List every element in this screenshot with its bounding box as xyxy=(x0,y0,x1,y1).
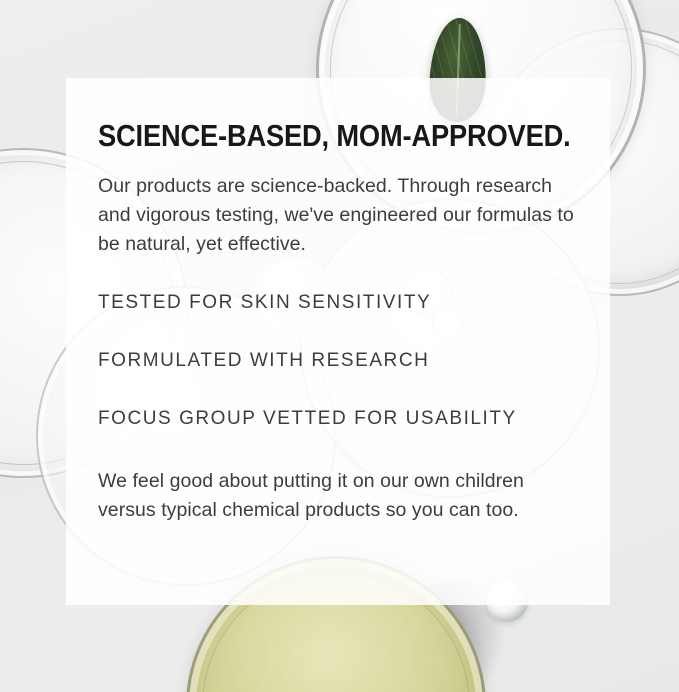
page-title: SCIENCE-BASED, MOM-APPROVED. xyxy=(98,120,519,152)
marketing-banner: SCIENCE-BASED, MOM-APPROVED. Our product… xyxy=(0,0,679,692)
feature-item-tested: TESTED FOR SKIN SENSITIVITY xyxy=(98,291,576,315)
intro-paragraph: Our products are science-backed. Through… xyxy=(98,172,576,259)
feature-item-focus-group: FOCUS GROUP VETTED FOR USABILITY xyxy=(98,407,576,431)
feature-item-formulated: FORMULATED WITH RESEARCH xyxy=(98,349,576,373)
content-panel: SCIENCE-BASED, MOM-APPROVED. Our product… xyxy=(66,78,610,605)
closing-paragraph: We feel good about putting it on our own… xyxy=(98,467,576,525)
